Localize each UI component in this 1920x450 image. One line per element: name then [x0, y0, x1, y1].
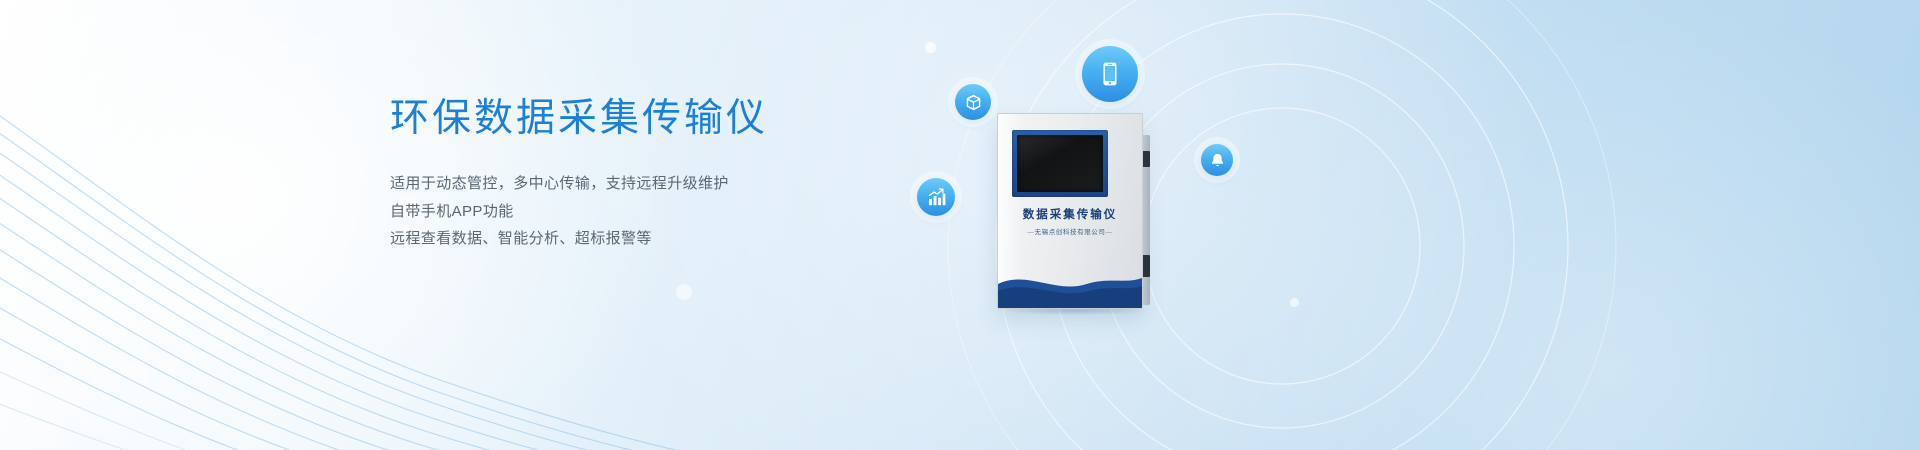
device-panel-subtitle: —无锡点创科技有限公司— [998, 226, 1142, 236]
hero-banner: 环保数据采集传输仪 适用于动态管控，多中心传输，支持远程升级维护 自带手机APP… [0, 0, 1920, 450]
page-title: 环保数据采集传输仪 [390, 96, 950, 142]
device-screen-bezel [1012, 130, 1108, 197]
hero-copy: 环保数据采集传输仪 适用于动态管控，多中心传输，支持远程升级维护 自带手机APP… [390, 96, 950, 253]
background-glow-right [1160, 0, 1920, 450]
decorative-bubble [1290, 298, 1299, 307]
mobile-phone-icon [1082, 46, 1138, 102]
device-image: 数据采集传输仪 —无锡点创科技有限公司— [997, 113, 1143, 309]
description-list: 适用于动态管控，多中心传输，支持远程升级维护 自带手机APP功能 远程查看数据、… [390, 170, 950, 253]
device-panel-title: 数据采集传输仪 [998, 206, 1142, 222]
cube-icon [955, 84, 991, 120]
description-line-1: 适用于动态管控，多中心传输，支持远程升级维护 [390, 170, 950, 198]
description-line-2: 自带手机APP功能 [390, 198, 950, 226]
bar-chart-icon [917, 178, 955, 216]
decorative-bubble [676, 284, 692, 300]
description-line-3: 远程查看数据、智能分析、超标报警等 [390, 225, 950, 253]
device-wave-graphic [998, 264, 1142, 308]
device-body: 数据采集传输仪 —无锡点创科技有限公司— [997, 113, 1143, 309]
alarm-bell-icon [1201, 144, 1233, 176]
decorative-bubble [925, 42, 936, 53]
device-nameplate: 数据采集传输仪 —无锡点创科技有限公司— [998, 206, 1142, 236]
decorative-arc-rings [830, 0, 1650, 450]
device-screen [1017, 135, 1103, 192]
